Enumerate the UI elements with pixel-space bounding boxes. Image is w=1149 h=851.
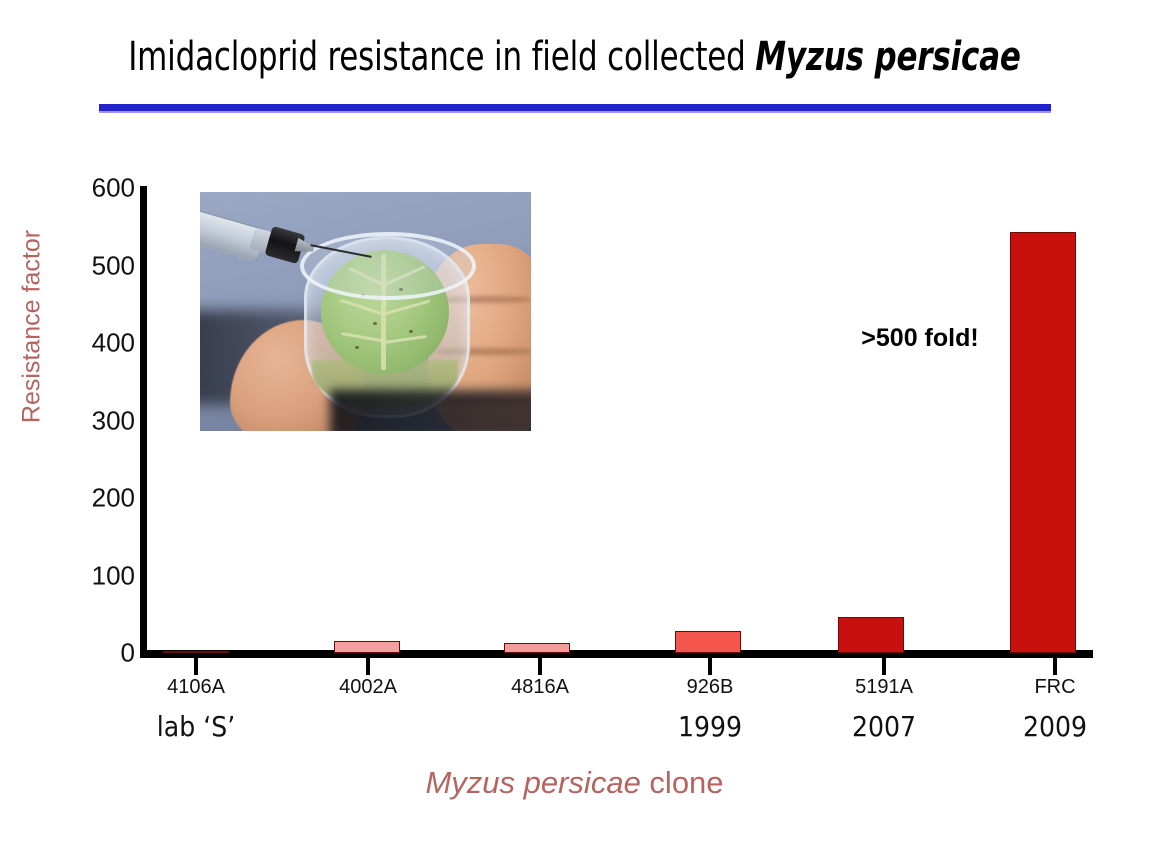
x-axis-tick-mark — [366, 658, 370, 675]
bioassay-photo — [200, 192, 531, 431]
x-axis-category-label: 4816A — [450, 676, 630, 699]
x-axis-category-label: 4002A — [278, 676, 458, 699]
x-axis-tick-mark — [538, 658, 542, 675]
x-axis-tick-mark — [1053, 658, 1057, 675]
photo-aphid — [355, 346, 359, 349]
y-axis-tick-label: 100 — [55, 560, 135, 591]
y-axis-tick-label: 400 — [55, 328, 135, 359]
bar-frc — [1010, 232, 1076, 653]
y-axis-tick-label: 0 — [55, 638, 135, 669]
bar-926b — [675, 631, 741, 653]
y-axis-tick-label: 300 — [55, 405, 135, 436]
photo-leaf-vein — [340, 299, 387, 317]
x-axis-sublabel: 2007 — [794, 710, 974, 743]
x-axis-sublabel: lab ‘S’ — [106, 710, 286, 743]
y-axis-title: Resistance factor — [18, 217, 47, 437]
y-axis-tick-label: 200 — [55, 483, 135, 514]
photo-aphid — [409, 330, 413, 333]
x-axis-category-label: 926B — [620, 676, 800, 699]
photo-aphid — [373, 322, 377, 325]
x-axis-tick-mark — [708, 658, 712, 675]
x-axis-sublabel: 1999 — [620, 710, 800, 743]
x-axis-tick-mark — [194, 658, 198, 675]
photo-cup-rim — [300, 232, 476, 300]
bar-5191a — [838, 617, 904, 653]
y-axis-tick-label: 500 — [55, 250, 135, 281]
bar-4002a — [334, 641, 400, 653]
photo-leaf-vein — [383, 335, 427, 344]
x-axis-sublabel: 2009 — [965, 710, 1145, 743]
x-axis-title-species: Myzus persicae — [425, 765, 640, 800]
resistance-bar-chart: 6005004003002001000 Resistance factor — [0, 0, 1149, 851]
x-axis-title: Myzus persicae clone — [0, 765, 1149, 801]
photo-foreground-shadow — [330, 390, 531, 431]
x-axis-tick-mark — [882, 658, 886, 675]
bar-4816a — [504, 643, 570, 653]
bar-4106a — [163, 651, 229, 653]
y-axis-tick-label: 600 — [55, 173, 135, 204]
x-axis-category-label: FRC — [965, 676, 1145, 699]
x-axis-category-label: 4106A — [106, 676, 286, 699]
x-axis-title-rest: clone — [641, 765, 724, 800]
fold-annotation: >500 fold! — [790, 324, 1050, 353]
x-axis-category-label: 5191A — [794, 676, 974, 699]
photo-leaf-vein — [384, 299, 431, 315]
